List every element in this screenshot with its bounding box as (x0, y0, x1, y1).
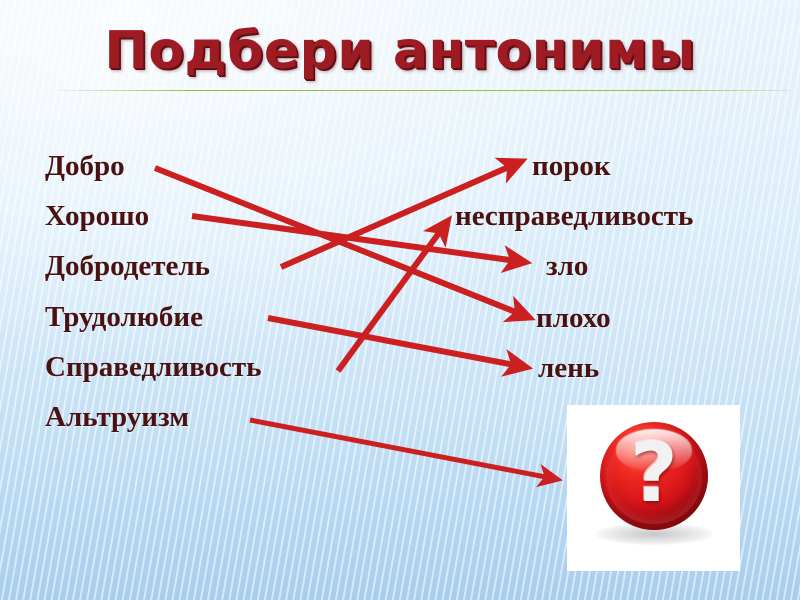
arrow-trudolyubie-to-len (268, 318, 525, 367)
arrow-altruizm-to-question-ball (250, 420, 556, 479)
right-word-len[interactable]: лень (538, 352, 599, 384)
right-word-ploho[interactable]: плохо (536, 302, 611, 334)
question-ball-image: ? (567, 405, 740, 571)
left-word-horosho[interactable]: Хорошо (45, 200, 149, 232)
right-word-porok[interactable]: порок (532, 150, 611, 182)
arrow-spravedlivost-to-nespravedlivost (338, 222, 447, 371)
title-divider-rule (58, 90, 790, 91)
question-ball-sphere: ? (600, 422, 708, 530)
slide-canvas: Подбери антонимы Добро Хорошо Добродетел… (0, 0, 800, 600)
left-word-dobro[interactable]: Добро (45, 150, 125, 182)
question-mark-glyph: ? (600, 422, 708, 530)
left-word-altruizm[interactable]: Альтруизм (45, 401, 189, 433)
page-title: Подбери антонимы (0, 20, 800, 82)
left-word-dobrodetel[interactable]: Добродетель (45, 250, 210, 282)
left-word-spravedlivost[interactable]: Справедливость (45, 351, 262, 383)
arrow-dobro-to-ploho (155, 168, 528, 317)
right-word-zlo[interactable]: зло (546, 250, 588, 282)
left-word-trudolyubie[interactable]: Трудолюбие (45, 301, 203, 333)
right-word-nespravedlivost[interactable]: несправедливость (455, 200, 693, 232)
